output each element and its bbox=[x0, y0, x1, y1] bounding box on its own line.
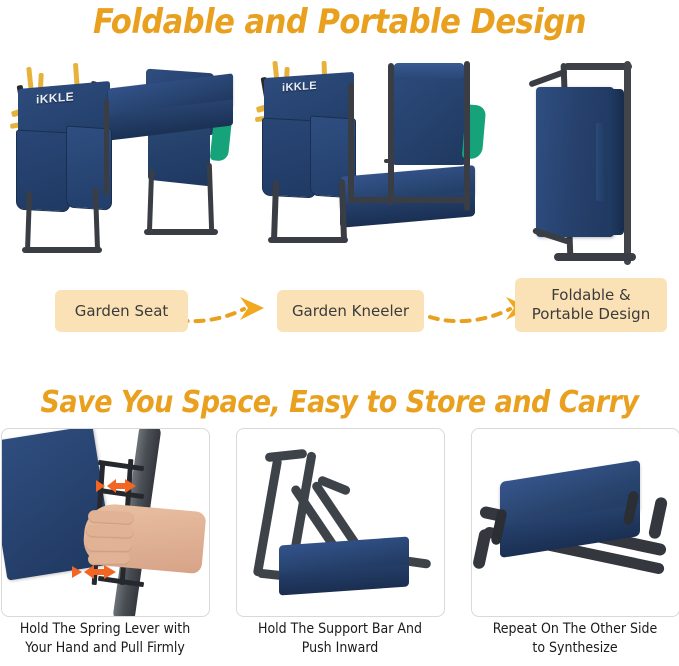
page-title-top: Foldable and Portable Design bbox=[0, 2, 679, 42]
folded-cushion-edge bbox=[608, 89, 624, 235]
step-panel-3 bbox=[471, 428, 679, 617]
finger bbox=[88, 510, 135, 525]
frame-leg bbox=[147, 169, 154, 235]
frame-foot bbox=[268, 237, 348, 243]
carry-strap bbox=[596, 123, 606, 201]
frame-foot bbox=[144, 229, 218, 235]
caption-chip-garden-kneeler: Garden Kneeler bbox=[277, 290, 424, 332]
product-image-garden-kneeler: iKKLE bbox=[252, 61, 502, 279]
frame-bottom-bar bbox=[554, 253, 636, 261]
frame-top-bar bbox=[564, 63, 632, 70]
frame-cross-bar bbox=[348, 197, 468, 203]
caption-line-1: Hold The Spring Lever with bbox=[0, 620, 210, 639]
frame-post bbox=[464, 61, 470, 211]
support-backrest bbox=[392, 65, 466, 165]
step-caption-1: Hold The Spring Lever with Your Hand and… bbox=[0, 620, 210, 658]
folded-frame-end bbox=[472, 528, 492, 570]
frame-leg bbox=[271, 181, 279, 243]
caption-text: Garden Seat bbox=[75, 302, 169, 321]
frame-post bbox=[104, 99, 109, 195]
caption-line-2: to Synthesize bbox=[470, 639, 679, 658]
support-backrest-top bbox=[394, 63, 464, 79]
product-image-garden-seat: iKKLE bbox=[8, 63, 238, 278]
product-image-foldable bbox=[512, 57, 672, 282]
showcase-row: iKKLE bbox=[0, 55, 679, 285]
step-panel-1 bbox=[1, 428, 210, 617]
caption-text: Garden Kneeler bbox=[292, 302, 409, 321]
frame-leg bbox=[25, 191, 32, 253]
step-caption-2: Hold The Support Bar And Push Inward bbox=[235, 620, 445, 658]
brand-logo: iKKLE bbox=[282, 80, 317, 94]
finger bbox=[86, 539, 132, 553]
frame-foot bbox=[22, 247, 102, 253]
caption-chip-garden-seat: Garden Seat bbox=[55, 290, 188, 332]
tool-pouch-small bbox=[262, 118, 316, 199]
caption-line-2: Your Hand and Pull Firmly bbox=[0, 639, 210, 658]
caption-text-line-2: Portable Design bbox=[532, 305, 650, 324]
frame-post bbox=[388, 63, 394, 205]
infographic-page: Foldable and Portable Design iKKLE bbox=[0, 0, 679, 666]
support-bar bbox=[253, 457, 283, 577]
tool-pouch-small bbox=[16, 130, 70, 213]
step-panel-2 bbox=[236, 428, 445, 617]
caption-line-1: Repeat On The Other Side bbox=[470, 620, 679, 639]
pull-direction-arrow-icon bbox=[94, 477, 138, 495]
frame-post bbox=[348, 83, 354, 199]
folded-frame-end bbox=[648, 496, 668, 540]
frame-post bbox=[624, 61, 631, 265]
caption-text-line-1: Foldable & bbox=[532, 286, 650, 305]
pull-direction-arrow-icon bbox=[70, 563, 118, 581]
caption-line-1: Hold The Support Bar And bbox=[235, 620, 445, 639]
page-title-bottom: Save You Space, Easy to Store and Carry bbox=[0, 385, 679, 420]
finger bbox=[86, 524, 134, 539]
caption-line-2: Push Inward bbox=[235, 639, 445, 658]
frame-leg bbox=[207, 163, 214, 233]
step-caption-3: Repeat On The Other Side to Synthesize bbox=[470, 620, 679, 658]
support-bar-top bbox=[265, 449, 308, 462]
caption-chip-foldable: Foldable & Portable Design bbox=[515, 278, 667, 332]
